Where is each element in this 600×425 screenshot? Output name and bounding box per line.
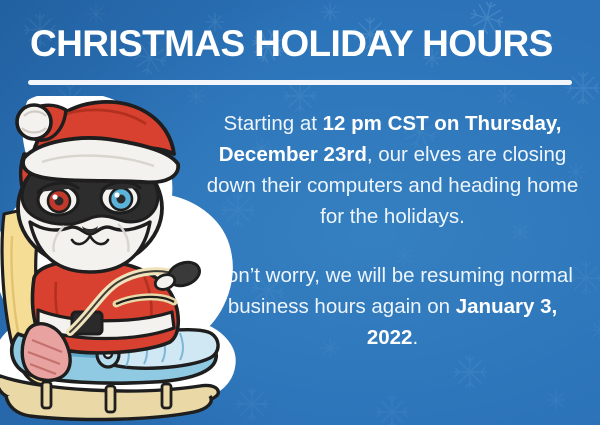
santa-cat-illustration (0, 96, 240, 425)
page-title: CHRISTMAS HOLIDAY HOURS (30, 22, 575, 66)
christmas-holiday-hours-banner: CHRISTMAS HOLIDAY HOURS Starting at 12 p… (0, 0, 600, 425)
p2-part2: . (412, 326, 418, 349)
announcement-copy: Starting at 12 pm CST on Thursday, Decem… (200, 108, 585, 353)
paragraph-closing: Starting at 12 pm CST on Thursday, Decem… (200, 108, 585, 232)
santa-hat (17, 102, 178, 182)
cat-eye-right (101, 182, 140, 213)
paragraph-reopening: Don’t worry, we will be resuming normal … (200, 260, 585, 353)
cat-eye-left (38, 183, 78, 215)
title-divider (28, 80, 572, 85)
